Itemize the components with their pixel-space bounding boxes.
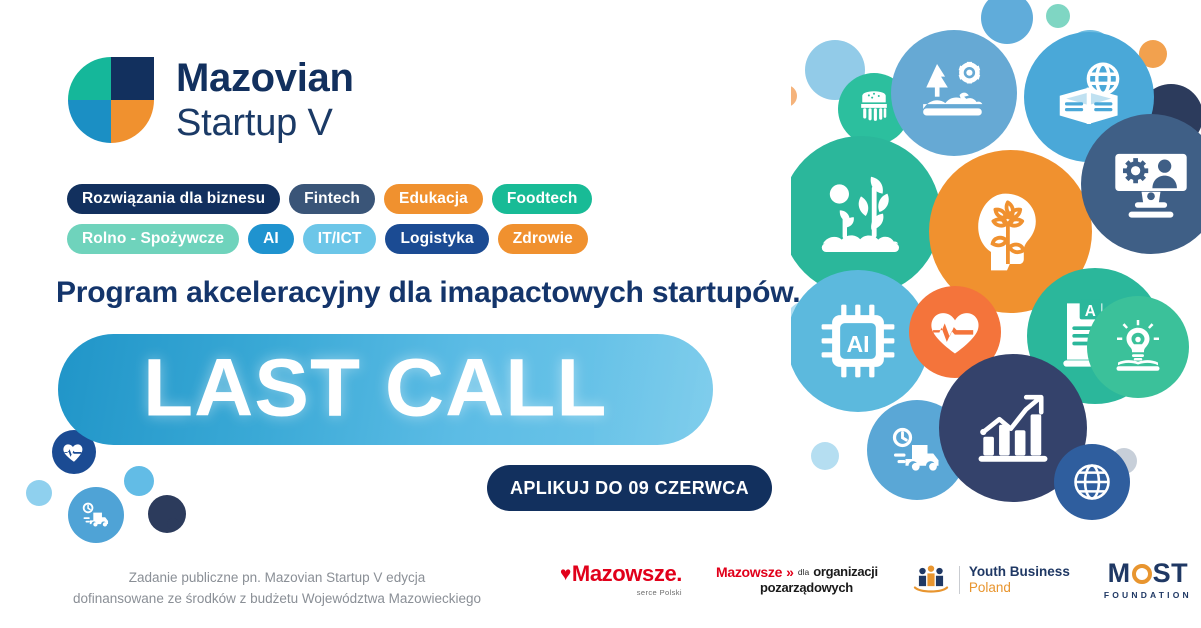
cluster-bg-circle-6 [791,85,797,107]
mazowsze-tagline: serce Polski [637,588,682,597]
last-call-banner: LAST CALL [58,334,713,445]
tag-rozwiazania-dla-biznesu[interactable]: Rozwiązania dla biznesu [67,184,280,214]
most-wordmark: M ST [1108,560,1189,587]
computer-gear-user-icon [1109,142,1193,226]
promotional-banner: Mazovian Startup V Rozwiązania dla bizne… [0,0,1201,628]
brand-title: Mazovian [176,58,354,98]
mazowsze-wordmark: ♥Mazowsze. [560,563,682,585]
footer-logos: ♥Mazowsze. serce Polski Mazowsze » dla o… [560,560,1192,600]
cluster-icon-nature [891,30,1017,156]
tag-rolno-spozywcze[interactable]: Rolno - Spożywcze [67,224,239,254]
brand-subtitle: Startup V [176,104,354,142]
most-letter-m: M [1108,560,1131,587]
apply-button[interactable]: APLIKUJ DO 09 CZERWCA [487,465,772,511]
decor-bubble-dark-tail [167,518,179,530]
globe-icon [1069,459,1115,505]
people-group-icon [912,563,950,597]
footer-note-line-1: Zadanie publiczne pn. Mazovian Startup V… [62,568,492,589]
most-letter-o-ring [1132,564,1152,584]
tag-fintech[interactable]: Fintech [289,184,375,214]
youth-business-line-1: Youth Business [969,564,1070,580]
tag-ai[interactable]: AI [248,224,294,254]
plant-agriculture-icon [813,168,909,264]
mazovian-logo-mark [68,57,154,143]
headline: Program akceleracyjny dla imapactowych s… [56,276,800,310]
icon-cluster: AI A [791,0,1201,555]
svg-text:AI: AI [846,331,869,357]
cluster-icon-ai-chip: AI [791,270,929,412]
mazowsze-ngo-line-2: pozarządowych [716,581,853,596]
tag-logistyka[interactable]: Logistyka [385,224,488,254]
decor-bubble-small-2 [124,466,154,496]
chevron-right-icon: » [786,564,794,580]
cluster-bg-circle-10 [811,442,839,470]
growth-chart-icon [969,384,1057,472]
logo-youth-business-poland: Youth Business Poland [912,563,1070,597]
tag-it-ict[interactable]: IT/ICT [303,224,377,254]
youth-business-text: Youth Business Poland [969,564,1070,595]
mazowsze-ngo-name: Mazowsze [716,564,782,580]
brand-name-block: Mazovian Startup V [176,58,354,142]
logo-quadrant-bottom-left [68,100,111,143]
divider [959,566,960,594]
logo-mazowsze-serce-polski: ♥Mazowsze. serce Polski [560,563,682,597]
logo-mazowsze-ngo: Mazowsze » dla organizacji pozarządowych [716,564,878,595]
last-call-text: LAST CALL [143,347,607,429]
tag-foodtech[interactable]: Foodtech [492,184,593,214]
decor-truck-badge [68,487,124,543]
mind-flower-icon [963,184,1059,280]
footer-note-line-2: dofinansowane ze środków z budżetu Wojew… [62,589,492,610]
logo-quadrant-top-right [111,57,154,100]
decor-bubble-small-1 [26,480,52,506]
category-tags: Rozwiązania dla biznesu Fintech Edukacja… [67,184,687,264]
delivery-truck-icon [887,420,947,480]
cluster-bg-circle-2 [981,0,1033,44]
footer-funding-note: Zadanie publiczne pn. Mazovian Startup V… [62,568,492,610]
logo-quadrant-top-left [68,57,111,100]
mazowsze-ngo-organizacji: organizacji [813,565,878,580]
bread-icon [852,87,896,131]
logo-most-foundation: M ST FOUNDATION [1104,560,1192,600]
cluster-bg-circle-3 [1046,4,1070,28]
most-letters-st: ST [1153,560,1189,587]
heart-icon: ♥ [560,565,571,584]
tag-edukacja[interactable]: Edukacja [384,184,483,214]
cluster-icon-lightbulb-book [1087,296,1189,398]
cluster-icon-globe [1054,444,1130,520]
mazowsze-text: Mazowsze. [572,563,682,585]
most-foundation-label: FOUNDATION [1104,590,1192,600]
brand-logo: Mazovian Startup V [68,57,354,143]
lightbulb-book-icon [1108,317,1168,377]
delivery-truck-icon [79,498,113,532]
heart-pulse-icon [61,439,87,465]
tag-zdrowie[interactable]: Zdrowie [498,224,588,254]
ai-chip-icon: AI [816,299,900,383]
mazowsze-ngo-dla: dla [798,568,809,578]
youth-business-line-2: Poland [969,580,1070,596]
mazowsze-ngo-line-1: Mazowsze » dla organizacji [716,564,878,580]
heart-pulse-icon [927,304,983,360]
category-tags-row-1: Rozwiązania dla biznesu Fintech Edukacja… [67,184,687,214]
logo-quadrant-bottom-right [111,100,154,143]
nature-tree-icon [917,56,991,130]
category-tags-row-2: Rolno - Spożywcze AI IT/ICT Logistyka Zd… [67,224,687,254]
svg-text:A: A [1085,303,1096,320]
